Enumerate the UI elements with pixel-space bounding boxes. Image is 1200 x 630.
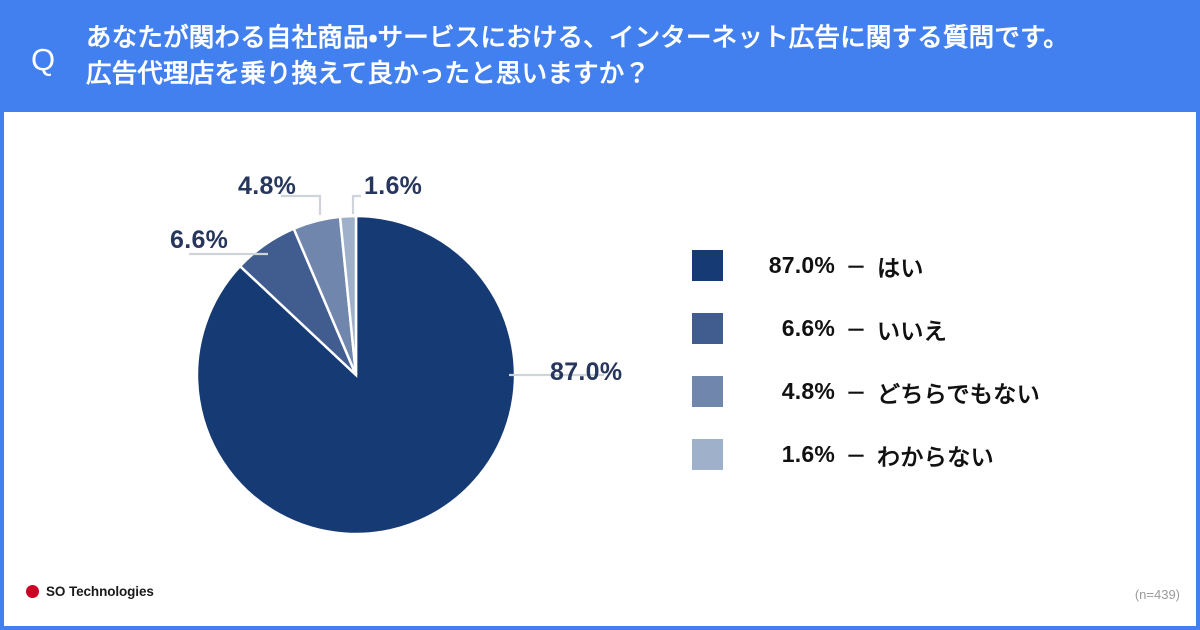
legend-dash: － [835,251,877,280]
legend-label-iie: いいえ [877,312,947,346]
infographic-card: Q あなたが関わる自社商品・サービスにおける、インターネット広告に関する質問です… [0,0,1200,630]
pie-label-wakaranai: 1.6% [364,172,422,201]
legend-item-hai: 87.0% － はい [692,234,1152,297]
pie-label-hai: 87.0% [550,358,622,387]
legend-swatch-wakaranai [692,439,723,470]
legend-dash: － [835,377,877,406]
question-text: あなたが関わる自社商品・サービスにおける、インターネット広告に関する質問です。 … [86,20,1069,92]
pie-chart: 87.0% 6.6% 4.8% 1.6% [4,112,664,572]
legend-percent-iie: 6.6% [743,315,835,342]
pie-label-dochira: 4.8% [238,172,296,201]
legend-dash: － [835,314,877,343]
legend-label-hai: はい [877,249,924,283]
leader-line-wakaranai [353,196,361,214]
brand-name: SO Technologies [46,584,154,599]
legend-swatch-iie [692,313,723,344]
legend-percent-wakaranai: 1.6% [743,441,835,468]
card-footer: SO Technologies (n=439) [4,570,1196,626]
legend-swatch-dochira [692,376,723,407]
chart-legend: 87.0% － はい 6.6% － いいえ 4.8% － どちらでもない 1.6… [692,234,1152,486]
brand-dot-icon [26,585,39,598]
legend-item-dochira: 4.8% － どちらでもない [692,360,1152,423]
brand: SO Technologies [26,584,154,599]
legend-swatch-hai [692,250,723,281]
legend-percent-hai: 87.0% [743,252,835,279]
pie-slices [197,216,515,534]
legend-label-dochira: どちらでもない [877,375,1040,409]
sample-size: (n=439) [1135,587,1180,602]
question-header: Q あなたが関わる自社商品・サービスにおける、インターネット広告に関する質問です… [0,0,1200,112]
legend-percent-dochira: 4.8% [743,378,835,405]
legend-dash: － [835,440,877,469]
question-mark-icon: Q [0,38,86,75]
legend-item-iie: 6.6% － いいえ [692,297,1152,360]
pie-label-iie: 6.6% [170,226,228,255]
legend-item-wakaranai: 1.6% － わからない [692,423,1152,486]
pie-chart-svg [4,112,664,572]
legend-label-wakaranai: わからない [877,438,994,472]
chart-content: 87.0% 6.6% 4.8% 1.6% 87.0% － はい 6.6% － い… [4,112,1196,626]
